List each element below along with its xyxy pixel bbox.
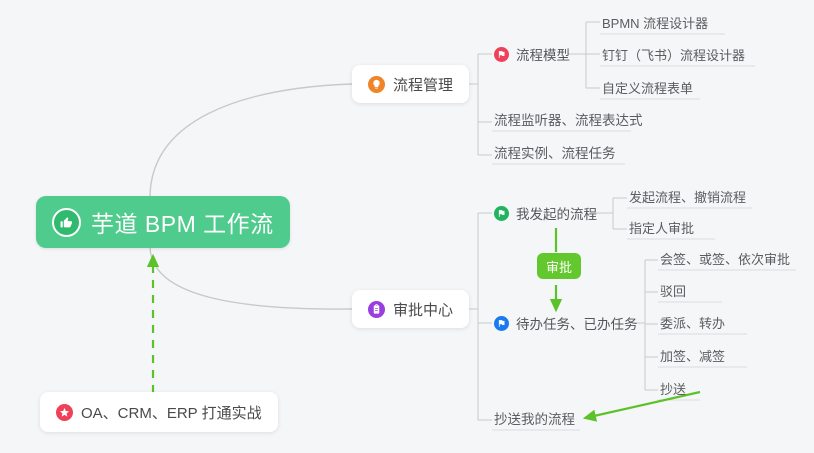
node-todo-done-tasks[interactable]: 待办任务、已办任务 xyxy=(494,311,638,335)
leaf-delegate-transfer[interactable]: 委派、转办 xyxy=(660,311,725,333)
node-label: 待办任务、已办任务 xyxy=(516,313,638,333)
leaf-label: 自定义流程表单 xyxy=(602,78,693,97)
leaf-reject[interactable]: 驳回 xyxy=(660,279,686,301)
tag-approval[interactable]: 审批 xyxy=(537,253,581,279)
leaf-custom-form[interactable]: 自定义流程表单 xyxy=(602,76,693,98)
lightbulb-pin-icon xyxy=(368,76,385,93)
root-node[interactable]: 芋道 BPM 工作流 xyxy=(36,196,290,248)
node-label: 我发起的流程 xyxy=(516,203,597,223)
leaf-label: 指定人审批 xyxy=(629,218,694,237)
node-my-initiated-flow[interactable]: 我发起的流程 xyxy=(494,201,597,225)
leaf-add-remove-sign[interactable]: 加签、减签 xyxy=(660,344,725,366)
leaf-label: 委派、转办 xyxy=(660,313,725,332)
leaf-label: 会签、或签、依次审批 xyxy=(660,249,790,268)
flag-icon xyxy=(494,47,509,62)
branch-label: 流程管理 xyxy=(393,74,453,95)
thumbs-up-icon xyxy=(52,208,81,237)
note-integration[interactable]: OA、CRM、ERP 打通实战 xyxy=(40,392,278,432)
leaf-process-listener[interactable]: 流程监听器、流程表达式 xyxy=(494,108,643,130)
branch-label: 审批中心 xyxy=(393,299,453,320)
leaf-cc[interactable]: 抄送 xyxy=(660,377,686,399)
leaf-label: 加签、减签 xyxy=(660,346,725,365)
leaf-start-cancel-flow[interactable]: 发起流程、撤销流程 xyxy=(629,185,746,207)
star-icon xyxy=(56,404,73,421)
leaf-bpmn-designer[interactable]: BPMN 流程设计器 xyxy=(602,11,708,33)
tag-label: 审批 xyxy=(546,257,572,276)
leaf-assignee-approval[interactable]: 指定人审批 xyxy=(629,216,694,238)
branch-process-management[interactable]: 流程管理 xyxy=(352,65,469,103)
flag-icon xyxy=(494,206,509,221)
leaf-dingtalk-feishu-designer[interactable]: 钉钉（飞书）流程设计器 xyxy=(602,43,745,65)
leaf-countersign[interactable]: 会签、或签、依次审批 xyxy=(660,247,790,269)
leaf-label: 流程实例、流程任务 xyxy=(494,142,616,162)
leaf-label: 流程监听器、流程表达式 xyxy=(494,109,643,129)
leaf-label: BPMN 流程设计器 xyxy=(602,13,708,32)
node-label: 流程模型 xyxy=(516,44,570,64)
branch-approval-center[interactable]: 审批中心 xyxy=(352,290,469,328)
note-label: OA、CRM、ERP 打通实战 xyxy=(81,402,262,423)
leaf-process-instance[interactable]: 流程实例、流程任务 xyxy=(494,141,616,163)
clipboard-icon xyxy=(368,301,385,318)
flag-icon xyxy=(494,316,509,331)
leaf-label: 抄送 xyxy=(660,379,686,398)
leaf-cc-to-me[interactable]: 抄送我的流程 xyxy=(494,407,575,429)
leaf-label: 钉钉（飞书）流程设计器 xyxy=(602,45,745,64)
node-process-model[interactable]: 流程模型 xyxy=(494,42,570,66)
leaf-label: 发起流程、撤销流程 xyxy=(629,187,746,206)
mindmap-canvas: 芋道 BPM 工作流 流程管理 流程模型 BPMN 流程设计器 钉钉（飞书）流程… xyxy=(0,0,814,453)
leaf-label: 驳回 xyxy=(660,281,686,300)
leaf-label: 抄送我的流程 xyxy=(494,408,575,428)
root-label: 芋道 BPM 工作流 xyxy=(91,205,274,239)
